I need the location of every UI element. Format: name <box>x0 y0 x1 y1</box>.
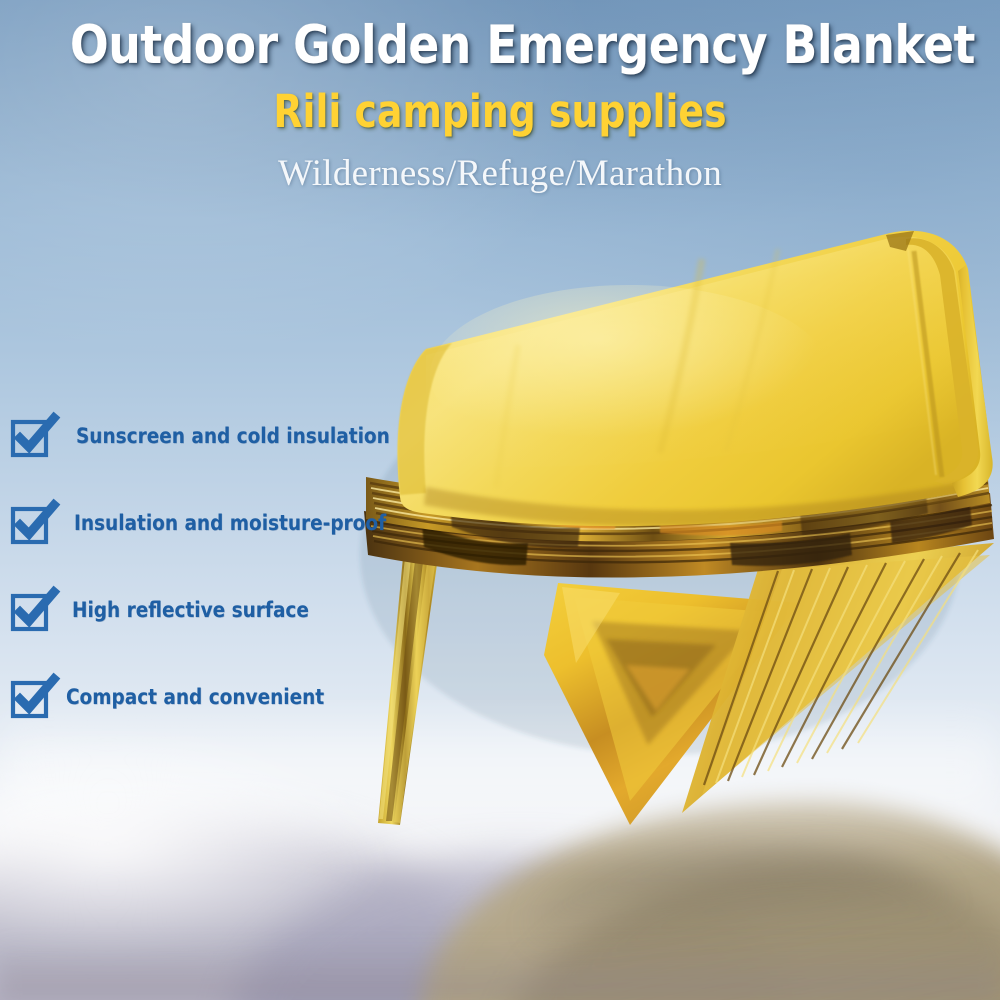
checkbox-checked-icon <box>10 587 56 633</box>
feature-label: Sunscreen and cold insulation <box>76 424 390 448</box>
checkbox-checked-icon <box>10 500 56 546</box>
product-image-gold-blanket <box>330 225 1000 865</box>
feature-item: Insulation and moisture-proof <box>10 479 430 566</box>
checkbox-checked-icon <box>10 413 56 459</box>
blanket-top-face <box>398 231 993 526</box>
feature-label: Insulation and moisture-proof <box>74 511 386 535</box>
feature-item: High reflective surface <box>10 566 430 653</box>
feature-label: Compact and convenient <box>66 685 324 709</box>
feature-list: Sunscreen and cold insulation Insulation… <box>10 392 430 740</box>
ground-shadow <box>0 940 1000 1000</box>
feature-label: High reflective surface <box>72 598 309 622</box>
product-ad-banner: Outdoor Golden Emergency Blanket Rili ca… <box>0 0 1000 1000</box>
checkbox-checked-icon <box>10 674 56 720</box>
feature-item: Sunscreen and cold insulation <box>10 392 430 479</box>
feature-item: Compact and convenient <box>10 653 430 740</box>
